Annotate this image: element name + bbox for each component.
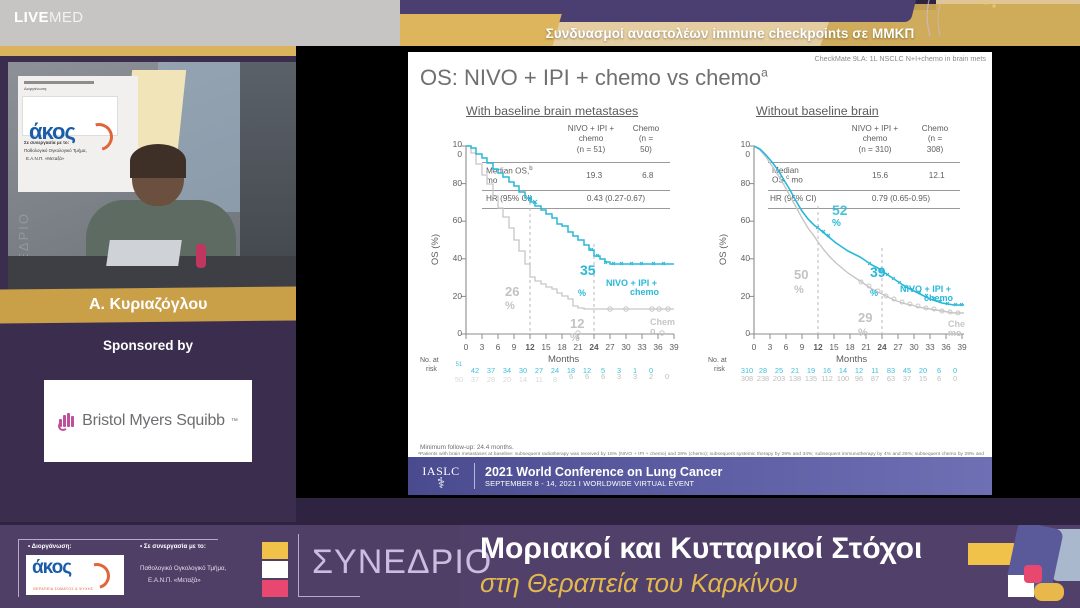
swatch-yellow	[262, 542, 288, 559]
left-risk-grey-7: 6	[564, 372, 578, 381]
left-xtick-6: 6	[491, 342, 505, 352]
presentation-slide[interactable]: CheckMate 9LA: 1L NSCLC N+I+chemo in bra…	[408, 52, 992, 495]
right-risk-grey-7: 96	[852, 374, 866, 383]
right-ytick-60: 60	[732, 215, 750, 225]
left-risk-blue-4: 30	[516, 366, 530, 375]
slide-title-superscript: a	[761, 66, 768, 80]
left-xtick-36: 36	[651, 342, 665, 352]
right-y-axis-label: OS (%)	[718, 234, 729, 265]
bottom-banner: • Διοργάνωση: • Σε συνεργασία με το: Παθ…	[0, 525, 1080, 608]
left-ytick-40: 40	[444, 253, 462, 263]
right-risk-grey-9: 63	[884, 374, 898, 383]
event-title-line2: στη Θεραπεία του Καρκίνου	[480, 568, 798, 599]
iaslc-conference-dates: SEPTEMBER 8 - 14, 2021 I WORLDWIDE VIRTU…	[485, 479, 722, 488]
right-xtick-36: 36	[939, 342, 953, 352]
right-km-plot	[728, 144, 968, 360]
akos-logo-text: άκος	[32, 557, 71, 579]
poster-coop-label: Σε συνεργασία με το:	[24, 140, 69, 145]
swatch-white	[262, 561, 288, 578]
right-anno-50-pct: %	[794, 284, 804, 296]
left-anno-12: 12	[570, 316, 584, 331]
right-risk-grey-6: 100	[836, 374, 850, 383]
right-xtick-27: 27	[891, 342, 905, 352]
right-xtick-18: 18	[843, 342, 857, 352]
right-risk-grey-1: 238	[756, 374, 770, 383]
left-risk-grey-13: 0	[660, 372, 674, 381]
right-ytick-100: 100	[732, 139, 750, 159]
speaker-name: Α. Κυριαζόγλου	[89, 296, 207, 314]
event-title-line1: Μοριακοί και Κυτταρικοί Στόχοι	[480, 532, 922, 566]
left-ytick-60: 60	[444, 215, 462, 225]
left-xtick-15: 15	[539, 342, 553, 352]
left-anno-12-pct: %	[570, 332, 580, 344]
poster-dept-line2: Ε.Α.Ν.Π. «Μεταξά»	[26, 156, 64, 161]
background-poster: Διοργάνωση: άκος Σε συνεργασία με το: Πα…	[18, 76, 138, 192]
sponsor-logo-card[interactable]: Bristol Myers Squibb ™	[44, 380, 252, 462]
left-xtick-0: 0	[459, 342, 473, 352]
left-anno-35: 35	[580, 262, 596, 278]
left-risk-grey-1: 37	[468, 375, 482, 384]
bottom-dept-line2: Ε.Α.Ν.Π. «Μεταξά»	[148, 577, 201, 584]
left-series-label-chemo: Chemo	[650, 318, 675, 337]
right-risk-grey-0: 308	[740, 374, 754, 383]
right-xtick-6: 6	[779, 342, 793, 352]
right-xtick-33: 33	[923, 342, 937, 352]
left-ytick-80: 80	[444, 178, 462, 188]
iaslc-conference-title: 2021 World Conference on Lung Cancer	[485, 465, 722, 479]
left-risk-grey-8: 6	[580, 372, 594, 381]
left-xtick-12: 12	[523, 342, 537, 352]
right-risk-label2: risk	[714, 366, 725, 373]
akos-logo-card[interactable]: άκος ΘΕΡΑΠΕΙΑ ΣΩΜΑΤΟΣ & ΨΥΧΗΣ	[26, 555, 124, 595]
left-risk-blue-5: 27	[532, 366, 546, 375]
right-risk-grey-5: 112	[820, 374, 834, 383]
bottom-hairline	[18, 539, 218, 540]
left-risk-blue-1: 42	[468, 366, 482, 375]
left-risk-label: No. at	[420, 357, 439, 364]
sponsor-trademark: ™	[231, 418, 238, 425]
left-anno-35-pct: %	[578, 288, 586, 298]
slide-title: OS: NIVO + IPI + chemo vs chemoa	[420, 65, 768, 91]
left-risk-grey-9: 6	[596, 372, 610, 381]
right-anno-52: 52	[832, 202, 848, 218]
right-ytick-20: 20	[732, 291, 750, 301]
right-xtick-3: 3	[763, 342, 777, 352]
left-risk-grey-4: 14	[516, 375, 530, 384]
left-xtick-3: 3	[475, 342, 489, 352]
gold-divider	[0, 46, 296, 56]
slide-corner-tag: CheckMate 9LA: 1L NSCLC N+I+chemo in bra…	[814, 54, 986, 63]
left-xtick-39: 39	[667, 342, 681, 352]
right-anno-52-pct: %	[832, 218, 841, 229]
bottom-vertical-line	[18, 539, 19, 597]
speaker-name-bar: Α. Κυριαζόγλου	[0, 286, 296, 323]
right-ytick-40: 40	[732, 253, 750, 263]
left-xtick-27: 27	[603, 342, 617, 352]
left-km-plot	[440, 144, 678, 360]
right-series-label-nivo: NIVO + IPI +chemo	[900, 285, 953, 304]
iaslc-logo: IASLC ⚕	[408, 464, 474, 489]
left-xtick-33: 33	[635, 342, 649, 352]
poster-org-label: Διοργάνωση:	[24, 86, 47, 91]
color-swatches	[262, 542, 288, 599]
left-xtick-30: 30	[619, 342, 633, 352]
right-anno-29-pct: %	[858, 327, 868, 339]
speaker-video[interactable]: Διοργάνωση: άκος Σε συνεργασία με το: Πα…	[8, 62, 296, 290]
left-risk-grey-3: 20	[500, 375, 514, 384]
slide-title-text: OS: NIVO + IPI + chemo vs chemo	[420, 65, 761, 90]
panel-heading-left: With baseline brain metastases	[466, 104, 638, 118]
iaslc-conference-info: 2021 World Conference on Lung Cancer SEP…	[475, 465, 722, 488]
right-xtick-24: 24	[875, 342, 889, 352]
swatch-hline	[298, 596, 360, 597]
iaslc-footer: IASLC ⚕ 2021 World Conference on Lung Ca…	[408, 457, 992, 495]
panel-heading-right: Without baseline brain	[756, 104, 879, 118]
left-xtick-18: 18	[555, 342, 569, 352]
right-anno-29: 29	[858, 310, 872, 325]
left-x-axis-label: Months	[548, 354, 579, 365]
right-risk-grey-2: 203	[772, 374, 786, 383]
left-ytick-0: 0	[444, 328, 462, 338]
screen-root: LIVEMED Συνδυασμοί αναστολέων immune che…	[0, 0, 1080, 608]
left-risk-grey-11: 3	[628, 372, 642, 381]
brand-bar: LIVEMED	[0, 0, 400, 46]
speaker-hair	[130, 144, 186, 178]
right-ytick-80: 80	[732, 178, 750, 188]
synedrio-wordmark: ΣΥΝΕΔΡΙΟ	[312, 543, 492, 582]
sponsored-by-label: Sponsored by	[0, 338, 296, 353]
right-xtick-21: 21	[859, 342, 873, 352]
left-risk-grey-10: 3	[612, 372, 626, 381]
banner-decoration	[960, 525, 1080, 608]
bottom-dept-line1: Παθολογικό Ογκολογικό Τμήμα,	[140, 565, 226, 572]
poster-dept-line1: Παθολογικό Ογκολογικό Τμήμα,	[24, 148, 87, 153]
right-x-axis-label: Months	[836, 354, 867, 365]
right-risk-grey-12: 6	[932, 374, 946, 383]
brand-live: LIVE	[14, 9, 49, 26]
left-ytick-100: 100	[444, 139, 462, 159]
left-risk-blue-3: 34	[500, 366, 514, 375]
swatch-red	[262, 580, 288, 597]
microphone	[196, 244, 206, 268]
akos-tagline: ΘΕΡΑΠΕΙΑ ΣΩΜΑΤΟΣ & ΨΥΧΗΣ	[33, 587, 93, 591]
left-risk-grey-2: 28	[484, 375, 498, 384]
right-xtick-15: 15	[827, 342, 841, 352]
left-risk-grey-0: 50	[452, 375, 466, 384]
left-risk-grey-5: 11	[532, 375, 546, 384]
right-xtick-39: 39	[955, 342, 969, 352]
right-risk-label: No. at	[708, 357, 727, 364]
left-xtick-9: 9	[507, 342, 521, 352]
swatch-vline	[298, 534, 299, 596]
right-risk-grey-13: 0	[948, 374, 962, 383]
left-xtick-24: 24	[587, 342, 601, 352]
right-ytick-0: 0	[732, 328, 750, 338]
right-xtick-12: 12	[811, 342, 825, 352]
sponsor-name: Bristol Myers Squibb	[82, 412, 225, 430]
left-risk-grey-6: 8	[548, 375, 562, 384]
right-series-label-chemo: Chemo	[948, 320, 965, 339]
right-anno-39-pct: %	[870, 288, 878, 298]
left-series-label-nivo: NIVO + IPI +chemo	[606, 279, 659, 298]
left-anno-26: 26	[505, 284, 519, 299]
left-ytick-20: 20	[444, 291, 462, 301]
right-anno-39: 39	[870, 264, 886, 280]
right-risk-grey-8: 87	[868, 374, 882, 383]
session-title-bar: Συνδυασμοί αναστολέων immune checkpoints…	[400, 18, 1060, 48]
poster-akos-logo: άκος	[22, 96, 118, 136]
right-risk-grey-4: 135	[804, 374, 818, 383]
minimum-followup-note: Minimum follow-up: 24.4 months.	[420, 444, 514, 451]
right-anno-50: 50	[794, 267, 808, 282]
left-y-axis-label: OS (%)	[430, 234, 441, 265]
livemed-logo[interactable]: LIVEMED	[14, 9, 84, 26]
right-risk-grey-10: 37	[900, 374, 914, 383]
right-xtick-30: 30	[907, 342, 921, 352]
right-xtick-9: 9	[795, 342, 809, 352]
right-risk-grey-3: 138	[788, 374, 802, 383]
left-risk-label2: risk	[426, 366, 437, 373]
left-risk-blue-6: 24	[548, 366, 562, 375]
bottom-org-label: • Διοργάνωση:	[28, 543, 71, 550]
left-risk-grey-12: 2	[644, 372, 658, 381]
brand-med: MED	[49, 9, 84, 26]
left-anno-26-pct: %	[505, 300, 515, 312]
bristol-myers-squibb-icon	[58, 411, 76, 431]
right-risk-grey-11: 15	[916, 374, 930, 383]
laptop	[106, 240, 182, 266]
left-risk-blue-2: 37	[484, 366, 498, 375]
left-risk-blue-0: 51	[452, 362, 466, 368]
session-title: Συνδυασμοί αναστολέων immune checkpoints…	[546, 26, 915, 41]
bottom-coop-label: • Σε συνεργασία με το:	[140, 543, 206, 550]
iaslc-logo-mark-icon: ⚕	[408, 479, 474, 489]
right-xtick-0: 0	[747, 342, 761, 352]
